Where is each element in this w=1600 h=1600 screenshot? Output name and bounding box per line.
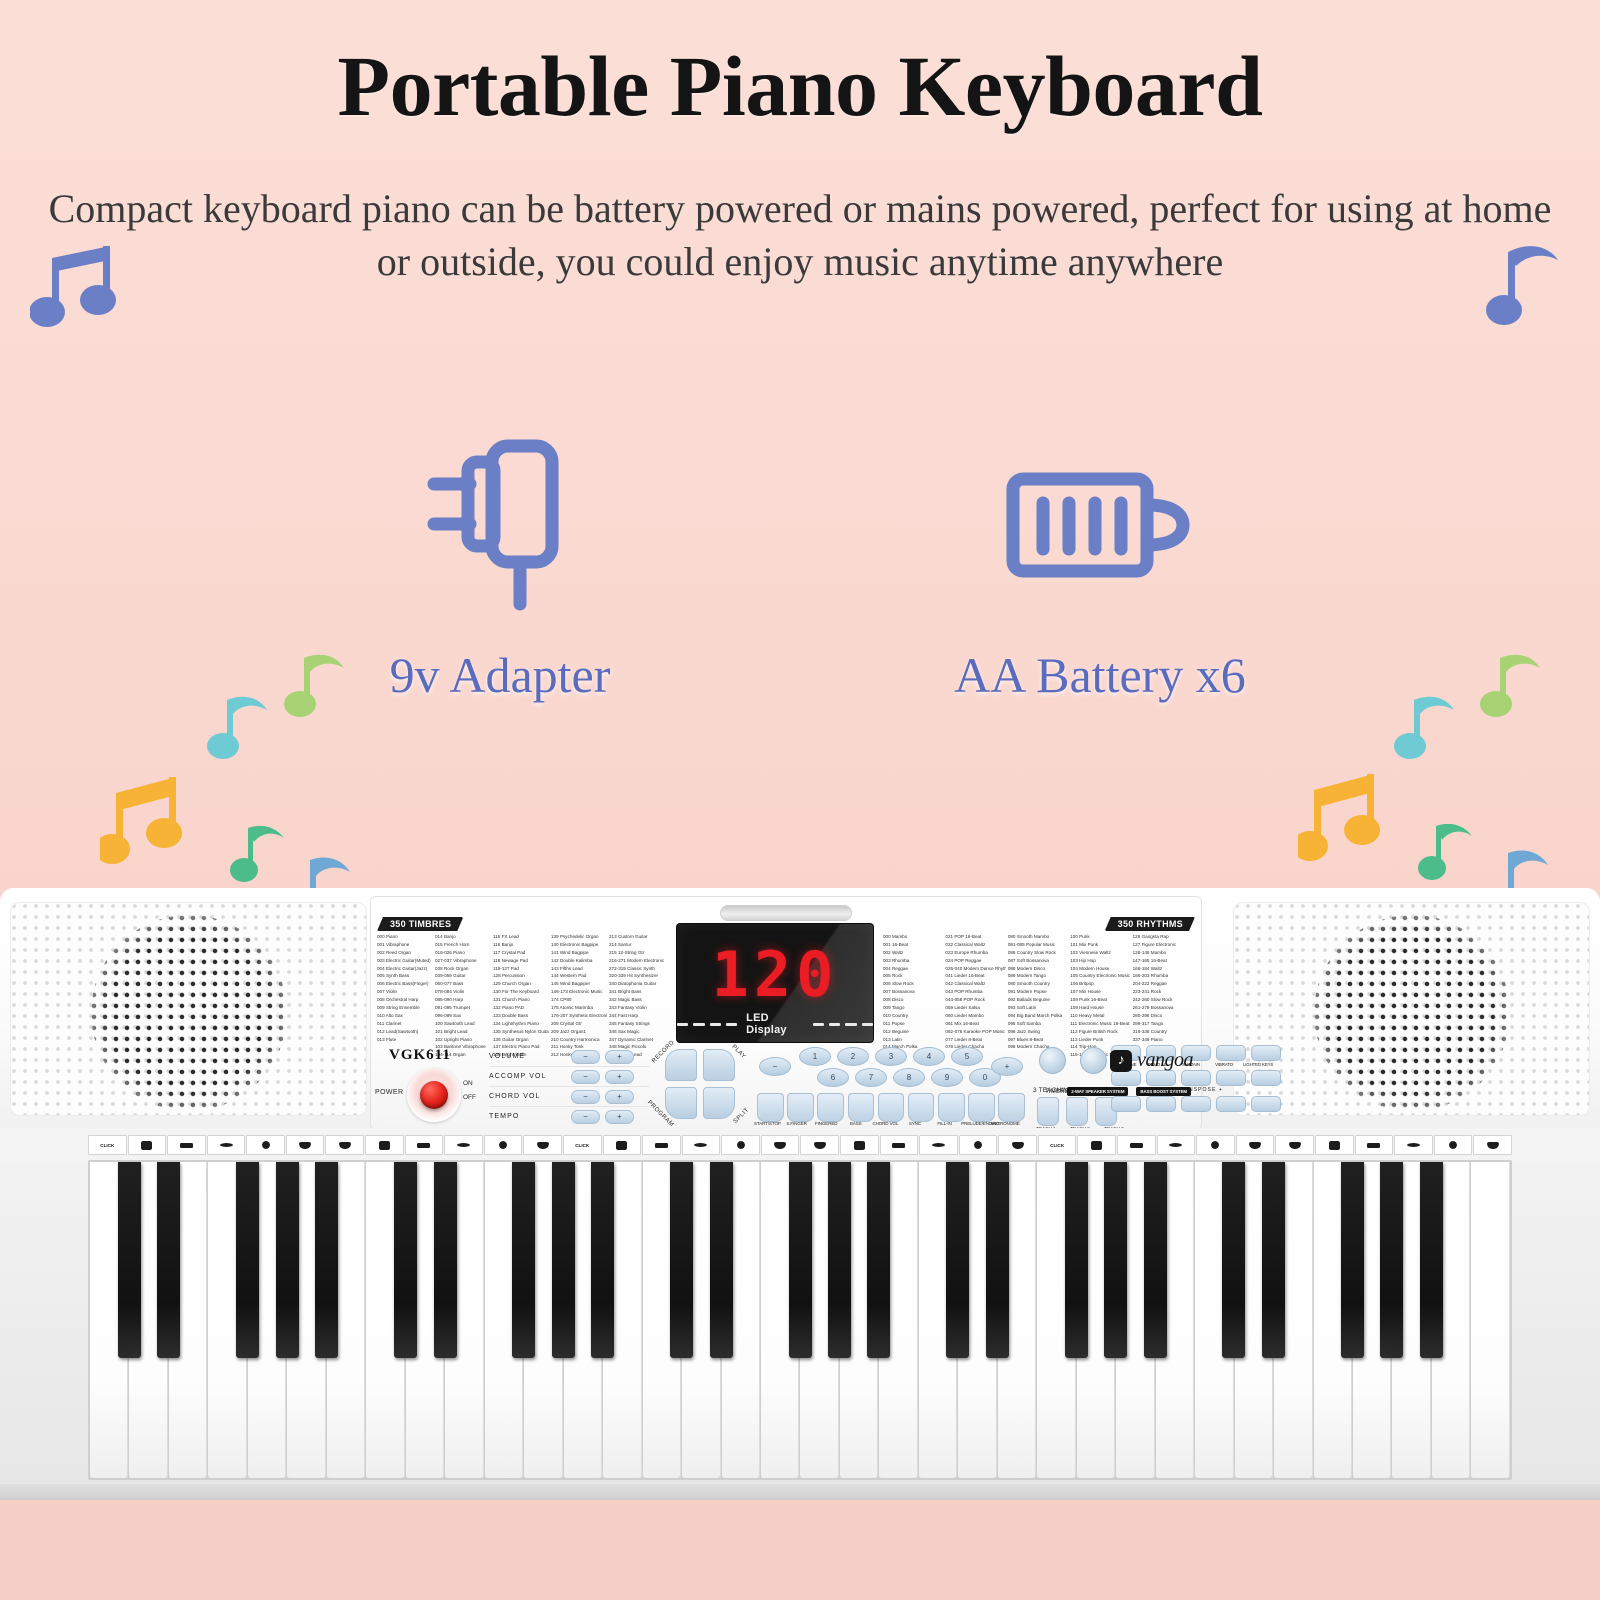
list-item: 204-222 Reggae (1133, 980, 1193, 988)
percussion-glyph (774, 1142, 786, 1149)
numpad-dash-button[interactable]: − (759, 1057, 791, 1076)
page-subtitle: Compact keyboard piano can be battery po… (40, 183, 1560, 289)
list-item: 023 Europe Rhumba (945, 949, 1005, 957)
percussion-icon (1275, 1135, 1314, 1155)
percussion-glyph (854, 1141, 865, 1150)
list-item: 341 Bright Bass (609, 988, 665, 996)
list-column: 000 Piano001 Vibraphone002 Reed Organ003… (377, 933, 435, 1059)
list-item: 001 Vibraphone (377, 941, 433, 949)
percussion-glyph (974, 1141, 982, 1149)
list-item: 344 Fast Harp (609, 1012, 665, 1020)
black-key[interactable] (710, 1162, 733, 1358)
keyboard-top-panel: 350 TIMBRES 000 Piano001 Vibraphone002 R… (0, 888, 1600, 1136)
list-item: 010 Country (883, 1012, 943, 1020)
black-key[interactable] (946, 1162, 969, 1358)
hihat-icon-button[interactable] (1181, 1096, 1211, 1112)
list-item: 126 Gangsta Rap (1133, 933, 1193, 941)
list-item: 185-203 Rhumba (1133, 972, 1193, 980)
list-column: 014 Banjo015 French Horn016-026 Piano027… (435, 933, 493, 1059)
percussion-glyph (339, 1142, 351, 1149)
list-item: 210 Country Harmonica (551, 1036, 607, 1044)
percussion-icon (405, 1135, 444, 1155)
percussion-icon (523, 1135, 562, 1155)
power-dial[interactable] (407, 1068, 461, 1122)
list-item: 060-077 Bass (435, 980, 491, 988)
power-off-label: OFF (463, 1091, 476, 1105)
led-dash (693, 1023, 704, 1026)
list-item: 096-099 Sax (435, 1012, 491, 1020)
led-display: 120 LED Display (676, 923, 874, 1043)
percussion-icon (840, 1135, 879, 1155)
list-item: 078-084 Violin (435, 988, 491, 996)
list-item: 102 Viennese Waltz (1070, 949, 1130, 957)
numpad-key-7[interactable]: 7 (855, 1068, 887, 1087)
led-dash (862, 1023, 873, 1026)
parameter-minus-button[interactable]: − (571, 1090, 600, 1104)
function-button[interactable] (817, 1093, 844, 1122)
percussion-icon (246, 1135, 285, 1155)
percussion-icon (365, 1135, 404, 1155)
percussion-glyph (655, 1143, 668, 1148)
feature-button-label: LIGHTED KEYS (1243, 1062, 1271, 1067)
key-bed: CLICKCLICKCLICK (0, 1128, 1600, 1500)
list-column: 021 POP 16-Beat022 Classical Waltz023 Eu… (945, 933, 1007, 1059)
list-item: 176-207 Synthetic Electronic (551, 1012, 607, 1020)
percussion-icon (1434, 1135, 1473, 1155)
split-label: SPLIT (733, 1107, 751, 1125)
model-name: VGK611 (389, 1047, 451, 1064)
list-item: 144 Western Pad (551, 972, 607, 980)
function-button[interactable] (848, 1093, 875, 1122)
list-item: 025-040 Modern Dance Rhythm (945, 965, 1005, 973)
black-key[interactable] (828, 1162, 851, 1358)
black-key[interactable] (1341, 1162, 1364, 1358)
numpad-key-9[interactable]: 9 (931, 1068, 963, 1087)
percussion-glyph (814, 1142, 826, 1149)
transpose-plus-button[interactable] (1146, 1070, 1176, 1086)
program-button[interactable] (665, 1087, 697, 1119)
percussion-glyph (1329, 1141, 1340, 1150)
music-note-lightgreen-right (1478, 648, 1548, 728)
percussion-icon (325, 1135, 364, 1155)
function-button-row (757, 1093, 1025, 1122)
black-key[interactable] (552, 1162, 575, 1358)
list-item: 214 Santur (609, 941, 665, 949)
list-item: 044-058 POP Rock (945, 996, 1005, 1004)
list-item: 280-298 Disco (1133, 1012, 1193, 1020)
percussion-glyph (892, 1143, 905, 1148)
list-item: 118 Newage Pad (493, 957, 549, 965)
led-dash (710, 1023, 721, 1026)
play-button[interactable] (703, 1049, 735, 1081)
list-item: 062-076 Karaoke POP Music (945, 1028, 1005, 1036)
led-dash (677, 1023, 688, 1026)
led-dash (845, 1023, 856, 1026)
function-button[interactable] (757, 1093, 784, 1122)
list-item: 010 Alto Sax (377, 1012, 433, 1020)
function-button-label: SYNC (902, 1121, 928, 1126)
feature-button[interactable] (1251, 1045, 1281, 1061)
drum-m-icon-button[interactable] (1111, 1096, 1141, 1112)
list-item: 134 Lightrhythm Piano (493, 1020, 549, 1028)
list-item: 337-349 Piano (1133, 1036, 1193, 1044)
speaker-grille-left (10, 902, 367, 1116)
list-item: 013 Latin (883, 1036, 943, 1044)
list-item: 007 Violin (377, 988, 433, 996)
list-item: 146-173 Electronic Music (551, 988, 607, 996)
list-column: 115 FX Lead116 Banjo117 Crystal Pad118 N… (493, 933, 551, 1059)
black-key[interactable] (394, 1162, 417, 1358)
list-item: 059 Lieder Salsa (945, 1004, 1005, 1012)
list-item: 127 Figure Electronic (1133, 941, 1193, 949)
list-item: 174 CP80 (551, 996, 607, 1004)
black-key[interactable] (1380, 1162, 1403, 1358)
list-item: 119-127 Pad (493, 965, 549, 973)
list-column: 000 Mambo001 16-Beat002 Waltz003 Rhumba0… (883, 933, 945, 1059)
list-item: 128-146 Mambo (1133, 949, 1193, 957)
parameter-plus-button[interactable]: + (605, 1070, 634, 1084)
transpose-minus-button[interactable] (1111, 1070, 1141, 1086)
black-key[interactable] (1262, 1162, 1285, 1358)
list-item: 003 Electric Guitar(Muted) (377, 957, 433, 965)
list-item: 000 Mambo (883, 933, 943, 941)
numpad-key-6[interactable]: 6 (817, 1068, 849, 1087)
parameter-plus-button[interactable]: + (605, 1110, 634, 1124)
list-item: 005 Rock (883, 972, 943, 980)
list-item: 092 Ballads Beguine (1008, 996, 1068, 1004)
function-button[interactable] (968, 1093, 995, 1122)
feature-button[interactable] (1216, 1045, 1246, 1061)
percussion-icon (1355, 1135, 1394, 1155)
list-item: 109 Hard House (1070, 1004, 1130, 1012)
list-item: 320-339 Hit Synthesizer (609, 972, 665, 980)
teach2-button[interactable] (1066, 1097, 1088, 1126)
rhythms-banner: 350 RHYTHMS (1105, 917, 1195, 931)
speaker-grille-right (1233, 902, 1590, 1116)
percussion-glyph (1091, 1141, 1102, 1150)
music-note-orange-left (100, 765, 200, 875)
percussion-glyph (262, 1141, 270, 1149)
numpad-key-1[interactable]: 1 (799, 1047, 831, 1066)
music-note-blue-right (1480, 236, 1570, 336)
list-item: 132 Piano PAD (493, 1004, 549, 1012)
snare-icon-button[interactable] (1146, 1096, 1176, 1112)
percussion-icon (1315, 1135, 1354, 1155)
black-key[interactable] (591, 1162, 614, 1358)
list-item: 343 Fantasy Violin (609, 1004, 665, 1012)
list-item: 011 Clarinet (377, 1020, 433, 1028)
list-column: 126 Gangsta Rap127 Figure Electronic128-… (1133, 933, 1195, 1059)
timbre-knob[interactable] (1039, 1047, 1066, 1074)
product-image-canvas: Portable Piano Keyboard Compact keyboard… (0, 0, 1600, 1600)
list-item: 131 Church Piano (493, 996, 549, 1004)
music-note-orange-right (1298, 762, 1398, 872)
list-item: 340 Diatophonia Guitar (609, 980, 665, 988)
parameter-controls: VOLUME−+ACCOMP VOL−+CHORD VOL−+TEMPO−+ (489, 1047, 649, 1126)
timbres-banner: 350 TIMBRES (377, 917, 463, 931)
numpad-key-4[interactable]: 4 (913, 1047, 945, 1066)
list-item: 011 Popse (883, 1020, 943, 1028)
list-item: 022 Classical Waltz (945, 941, 1005, 949)
list-item: 006 Slow Rock (883, 980, 943, 988)
percussion-icon (800, 1135, 839, 1155)
rhythm-knob[interactable] (1080, 1047, 1107, 1074)
list-item: 111 Electronic Music 16-Beat (1070, 1020, 1130, 1028)
black-key[interactable] (315, 1162, 338, 1358)
led-footer: LED Display (677, 1012, 873, 1036)
list-item: 318-336 Country (1133, 1028, 1193, 1036)
list-item: 208 Crystal Gtr (551, 1020, 607, 1028)
list-item: 272-319 Classic Synth (609, 965, 665, 973)
percussion-glyph (1407, 1143, 1420, 1147)
list-item: 261-279 Bossanova (1133, 1004, 1193, 1012)
percussion-glyph (737, 1141, 745, 1149)
function-button-label: CHORD VOL (872, 1121, 898, 1126)
list-item: 004 Reggae (883, 965, 943, 973)
list-item: 013 Flute (377, 1036, 433, 1044)
list-item: 009 String Ensemble (377, 1004, 433, 1012)
parameter-label: ACCOMP VOL (489, 1073, 571, 1080)
black-key[interactable] (1144, 1162, 1167, 1358)
list-item: 147-165 16-Beat (1133, 957, 1193, 965)
list-item: 142 Double Kalimba (551, 957, 607, 965)
keys-area (88, 1160, 1512, 1480)
list-column: 139 Psychedelic Organ140 Electronic Bagp… (551, 933, 609, 1059)
black-key[interactable] (867, 1162, 890, 1358)
list-item: 143 Fifths Lead (551, 965, 607, 973)
transport-dpad: RECORD PLAY PROGRAM SPLIT (663, 1047, 737, 1121)
list-item: 024 POP Reggae (945, 957, 1005, 965)
percussion-button-row (1111, 1096, 1281, 1112)
bass-boost-badge: BASS BOOST SYSTEM (1136, 1087, 1191, 1096)
power-button[interactable] (420, 1081, 448, 1109)
list-item: 089 Modern Tango (1008, 972, 1068, 980)
list-item: 038 Rock Organ (435, 965, 491, 973)
list-item: 130 For The Keyboard (493, 988, 549, 996)
led-dash (829, 1023, 840, 1026)
list-item: 145 Wind Bagpiper (551, 980, 607, 988)
percussion-icon (761, 1135, 800, 1155)
percussion-icon-click: CLICK (88, 1135, 127, 1155)
list-item: 043 POP Rhumba (945, 988, 1005, 996)
parameter-plus-button[interactable]: + (605, 1090, 634, 1104)
list-item: 299-317 Tango (1133, 1020, 1193, 1028)
list-item: 345 Fantasy Strings (609, 1020, 665, 1028)
list-item: 005 Synth Bass (377, 972, 433, 980)
list-item: 008 Orchestral Harp (377, 996, 433, 1004)
list-column: 100 Punk101 Mix Punk102 Viennese Waltz10… (1070, 933, 1132, 1059)
parameter-row: ACCOMP VOL−+ (489, 1067, 649, 1087)
percussion-glyph (299, 1142, 311, 1149)
black-key[interactable] (986, 1162, 1009, 1358)
power-on-label: ON (463, 1077, 476, 1091)
black-key[interactable] (512, 1162, 535, 1358)
transpose-button-row (1111, 1070, 1281, 1086)
list-item: 128 Percussion (493, 972, 549, 980)
percussion-icon (959, 1135, 998, 1155)
percussion-icon (128, 1135, 167, 1155)
list-item: 346 Sax Magic (609, 1028, 665, 1036)
split-button[interactable] (703, 1087, 735, 1119)
list-column: 080 Smooth Mambo081-085 Popular Music086… (1008, 933, 1070, 1059)
black-key[interactable] (670, 1162, 693, 1358)
list-item: 100 Punk (1070, 933, 1130, 941)
numpad-key-3[interactable]: 3 (875, 1047, 907, 1066)
list-item: 008 Disco (883, 996, 943, 1004)
music-note-blue-left (30, 236, 120, 336)
list-item: 012 Lead(Sawtooth) (377, 1028, 433, 1036)
black-key[interactable] (236, 1162, 259, 1358)
list-item: 347 Dynamic Clarinet (609, 1036, 665, 1044)
percussion-glyph (1249, 1142, 1261, 1149)
led-label: LED Display (742, 1012, 808, 1036)
percussion-glyph (1130, 1143, 1143, 1148)
list-item: 133 Double Bass (493, 1012, 549, 1020)
function-button-label: BASS (843, 1121, 869, 1126)
list-column: 213 Custom Guitar214 Santur215 12-String… (609, 933, 667, 1059)
black-key[interactable] (157, 1162, 180, 1358)
black-key[interactable] (1222, 1162, 1245, 1358)
black-key[interactable] (1420, 1162, 1443, 1358)
percussion-glyph (1169, 1143, 1182, 1147)
black-key[interactable] (1065, 1162, 1088, 1358)
parameter-row: VOLUME−+ (489, 1047, 649, 1067)
feature-adapter: 9v Adapter (300, 420, 700, 704)
black-key[interactable] (276, 1162, 299, 1358)
numpad-plus-button[interactable]: + (991, 1057, 1023, 1076)
cymbal2-icon-button[interactable] (1216, 1096, 1246, 1112)
feature-adapter-label: 9v Adapter (300, 646, 700, 704)
list-item: 166-184 Waltz (1133, 965, 1193, 973)
list-item: 004 Electric Guitar(Jazz) (377, 965, 433, 973)
parameter-minus-button[interactable]: − (571, 1050, 600, 1064)
percussion-icon (1473, 1135, 1512, 1155)
list-item: 213 Custom Guitar (609, 933, 665, 941)
drum-icon-button[interactable] (1181, 1070, 1211, 1086)
music-note-teal-right (1392, 690, 1462, 770)
list-item: 108 Punk 16-Beat (1070, 996, 1130, 1004)
black-key[interactable] (789, 1162, 812, 1358)
list-item: 081-085 Popular Music (1008, 941, 1068, 949)
parameter-label: TEMPO (489, 1113, 571, 1120)
list-item: 000 Piano (377, 933, 433, 941)
timbres-list: 000 Piano001 Vibraphone002 Reed Organ003… (377, 933, 667, 1059)
percussion-icon (1077, 1135, 1116, 1155)
list-item: 016-026 Piano (435, 949, 491, 957)
numpad-key-2[interactable]: 2 (837, 1047, 869, 1066)
list-item: 090 Smooth Country (1008, 980, 1068, 988)
list-item: 093 Soft Latin (1008, 1004, 1068, 1012)
list-item: 096 Jazz Swing (1008, 1028, 1068, 1036)
list-item: 012 Beguine (883, 1028, 943, 1036)
numpad-key-5[interactable]: 5 (951, 1047, 983, 1066)
percussion-icon (1196, 1135, 1235, 1155)
percussion-icon (1117, 1135, 1156, 1155)
music-note-lightgreen-left (282, 648, 352, 728)
parameter-row: CHORD VOL−+ (489, 1087, 649, 1107)
numeric-keypad: −1234567890+ (759, 1047, 1019, 1089)
function-button-label: S.FINGER (784, 1121, 810, 1126)
list-item: 117 Crystal Pad (493, 949, 549, 957)
numpad-key-8[interactable]: 8 (893, 1068, 925, 1087)
list-item: 041 Lieder 16-Beat (945, 972, 1005, 980)
music-note-green-right (1418, 818, 1478, 888)
percussion-glyph (1211, 1141, 1219, 1149)
black-key[interactable] (118, 1162, 141, 1358)
function-button-label: METRONOME (991, 1121, 1017, 1126)
feature-button-label: VIBRATO (1210, 1062, 1238, 1067)
percussion-glyph (932, 1143, 945, 1147)
cymbal-icon-button[interactable] (1251, 1070, 1281, 1086)
parameter-minus-button[interactable]: − (571, 1110, 600, 1124)
record-button[interactable] (665, 1049, 697, 1081)
conga-icon-button[interactable] (1251, 1096, 1281, 1112)
list-item: 080 Smooth Mambo (1008, 933, 1068, 941)
percussion-glyph (499, 1141, 507, 1149)
list-item: 087 Soft Bossanova (1008, 957, 1068, 965)
list-item: 100 Sawtooth Lead (435, 1020, 491, 1028)
brand-mark-icon: ♪ (1110, 1050, 1132, 1072)
percussion-icon (1236, 1135, 1275, 1155)
percussion-icon (1157, 1135, 1196, 1155)
list-item: 097 Blues 8-Beat (1008, 1036, 1068, 1044)
carry-handle[interactable] (720, 905, 852, 921)
function-button-label: FINGERED (813, 1121, 839, 1126)
list-item: 091-095 Trumpet (435, 1004, 491, 1012)
function-button[interactable] (908, 1093, 935, 1122)
function-button[interactable] (938, 1093, 965, 1122)
parameter-label: VOLUME (489, 1053, 571, 1060)
function-button[interactable] (998, 1093, 1025, 1122)
teaching-mode-buttons (1037, 1097, 1117, 1126)
list-item: 095 Soft Samba (1008, 1020, 1068, 1028)
parameter-minus-button[interactable]: − (571, 1070, 600, 1084)
function-button[interactable] (787, 1093, 814, 1122)
list-item: 116 Banjo (493, 941, 549, 949)
black-key[interactable] (1104, 1162, 1127, 1358)
percussion-glyph (616, 1141, 627, 1150)
list-item: 101 Mix Punk (1070, 941, 1130, 949)
percussion-icon (880, 1135, 919, 1155)
list-item: 140 Electronic Bagpipe (551, 941, 607, 949)
bell-icon-button[interactable] (1216, 1070, 1246, 1086)
percussion-glyph (220, 1143, 233, 1147)
brand-logo: ♪ vangoa (1110, 1049, 1193, 1072)
speaker-system-badge: 2-WAY SPEAKER SYSTEM (1067, 1087, 1128, 1096)
list-item: 103 Hip Hop (1070, 957, 1130, 965)
list-item: 102 Upright Piano (435, 1036, 491, 1044)
list-item: 085-090 Harp (435, 996, 491, 1004)
teach1-button[interactable] (1037, 1097, 1059, 1126)
percussion-icon (998, 1135, 1037, 1155)
feature-battery: AA Battery x6 (900, 420, 1300, 704)
percussion-glyph (1449, 1141, 1457, 1149)
parameter-plus-button[interactable]: + (605, 1050, 634, 1064)
function-button[interactable] (878, 1093, 905, 1122)
power-label: POWER (375, 1089, 403, 1096)
percussion-icon-click: CLICK (563, 1135, 602, 1155)
list-item: 105 Country Electronic Music (1070, 972, 1130, 980)
list-item: 107 Mix House (1070, 988, 1130, 996)
list-item: 342 Magic Bass (609, 996, 665, 1004)
black-key[interactable] (434, 1162, 457, 1358)
percussion-icon (167, 1135, 206, 1155)
percussion-glyph (694, 1143, 707, 1147)
page-title: Portable Piano Keyboard (0, 36, 1600, 136)
list-item: 060 Lieder Mambo (945, 1012, 1005, 1020)
list-item: 242-260 Slow Rock (1133, 996, 1193, 1004)
list-item: 141 Wind Bagpipe (551, 949, 607, 957)
